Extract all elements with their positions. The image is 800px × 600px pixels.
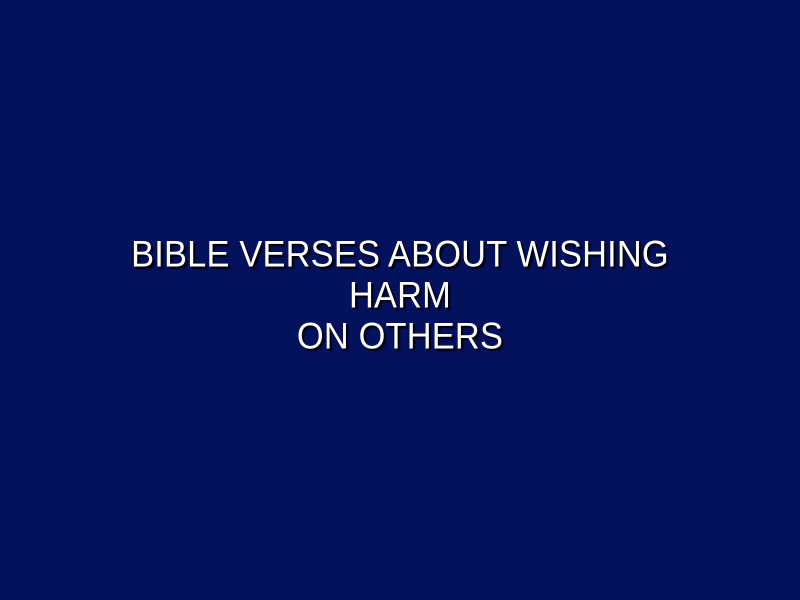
page-title: BIBLE VERSES ABOUT WISHING HARM ON OTHER… (93, 234, 707, 357)
title-text-block: BIBLE VERSES ABOUT WISHING HARM ON OTHER… (70, 234, 730, 357)
title-card-canvas: BIBLE VERSES ABOUT WISHING HARM ON OTHER… (0, 0, 800, 600)
